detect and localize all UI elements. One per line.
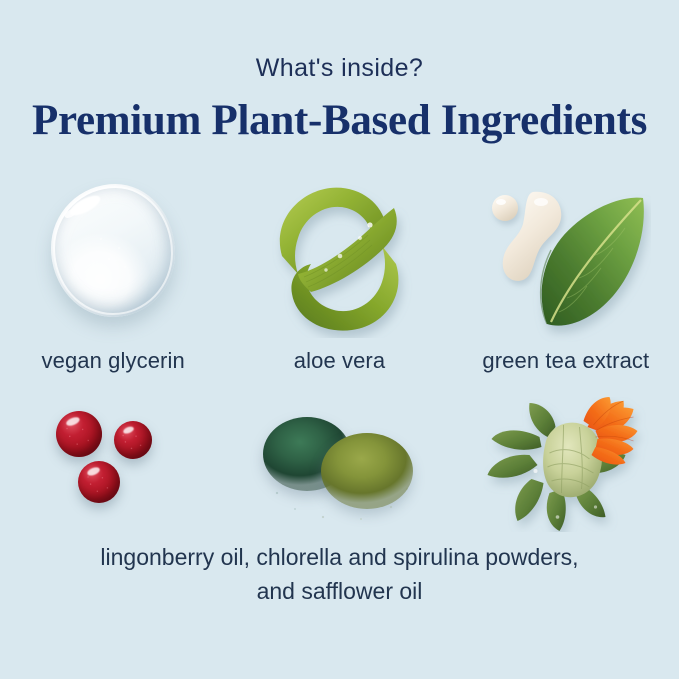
berry-texture bbox=[78, 461, 120, 503]
label-vegan-glycerin: vegan glycerin bbox=[0, 348, 226, 374]
eyebrow-text: What's inside? bbox=[0, 54, 679, 83]
ingredient-cell-green-tea-extract bbox=[453, 170, 679, 340]
ingredient-label-row-1: vegan glycerin aloe vera green tea extra… bbox=[0, 348, 679, 374]
berry bbox=[56, 411, 102, 457]
aloe-vera-icon bbox=[264, 178, 414, 338]
label-green-tea-extract: green tea extract bbox=[453, 348, 679, 374]
caption-line-2: and safflower oil bbox=[0, 574, 679, 608]
safflower-dew-drop bbox=[556, 515, 560, 519]
ingredient-cell-safflower-oil bbox=[453, 395, 679, 535]
ingredient-caption-row-2: lingonberry oil, chlorella and spirulina… bbox=[0, 540, 679, 608]
berry-texture bbox=[56, 411, 102, 457]
safflower-dew-drop bbox=[533, 469, 537, 473]
berry-texture bbox=[114, 421, 152, 459]
aloe-dew-drop bbox=[325, 268, 328, 271]
safflower-bud-icon bbox=[483, 397, 648, 532]
ingredients-infographic: What's inside? Premium Plant-Based Ingre… bbox=[0, 0, 679, 679]
ingredient-cell-lingonberry-oil bbox=[0, 395, 226, 535]
safflower-bud-head bbox=[543, 423, 602, 498]
ingredient-art-row-1 bbox=[0, 170, 679, 340]
berry bbox=[114, 421, 152, 459]
lingonberries-icon bbox=[38, 403, 188, 523]
page-title: Premium Plant-Based Ingredients bbox=[0, 96, 679, 145]
ingredient-cell-vegan-glycerin bbox=[0, 170, 226, 340]
aloe-dew-drop bbox=[359, 236, 363, 240]
safflower-dew-drop bbox=[594, 505, 597, 508]
algae-powder-mounds-icon bbox=[259, 409, 419, 529]
label-aloe-vera: aloe vera bbox=[226, 348, 452, 374]
aloe-dew-drop bbox=[368, 222, 373, 227]
caption-line-1: lingonberry oil, chlorella and spirulina… bbox=[0, 540, 679, 574]
ingredient-art-row-2 bbox=[0, 395, 679, 535]
green-tea-extract-icon bbox=[481, 182, 651, 342]
ingredient-cell-algae-powders bbox=[226, 395, 452, 535]
berry bbox=[78, 461, 120, 503]
chlorella-powder-mound bbox=[321, 433, 413, 509]
gel-sparkle-texture bbox=[85, 231, 137, 279]
aloe-dew-drop bbox=[338, 254, 343, 259]
glycerin-gel-blob-icon bbox=[51, 184, 175, 317]
ingredient-cell-aloe-vera bbox=[226, 170, 452, 340]
